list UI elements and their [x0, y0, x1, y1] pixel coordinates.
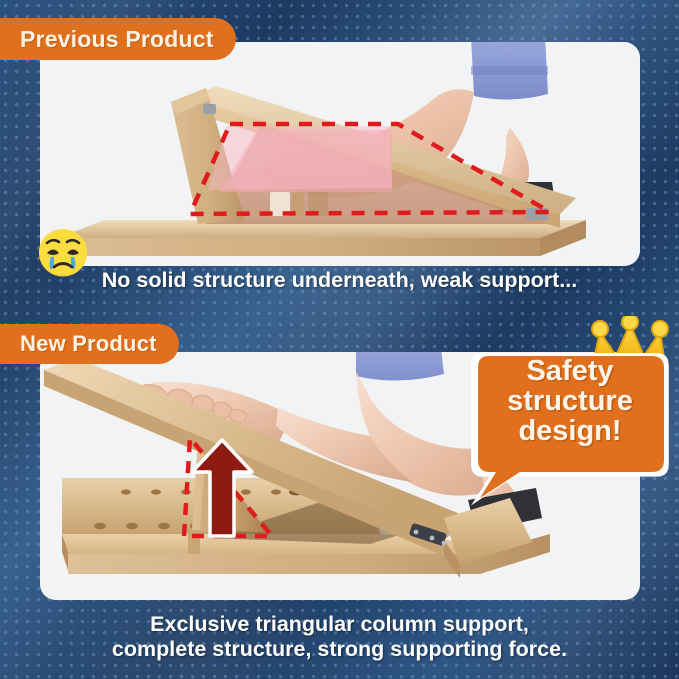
speech-bubble-shape: [470, 316, 679, 516]
previous-product-panel: [40, 42, 640, 266]
new-product-caption-line-1: Exclusive triangular column support,: [0, 612, 679, 637]
base-board-face: [58, 238, 540, 256]
safety-callout: Safety structure design!: [470, 316, 679, 516]
new-product-caption: Exclusive triangular column support, com…: [0, 612, 679, 663]
hinge-top: [203, 104, 216, 114]
badge-new-product: New Product: [0, 324, 179, 364]
crying-face-icon: [36, 226, 90, 280]
previous-product-caption-line: No solid structure underneath, weak supp…: [102, 268, 577, 292]
badge-new-product-label: New Product: [20, 331, 157, 357]
previous-product-photo: [40, 42, 640, 266]
new-product-caption-line-2: complete structure, strong supporting fo…: [0, 637, 679, 662]
previous-product-caption: No solid structure underneath, weak supp…: [0, 268, 679, 293]
badge-previous-product: Previous Product: [0, 18, 236, 60]
legging: [356, 352, 444, 381]
adjust-notches: [270, 192, 328, 216]
bubble-body: [478, 356, 664, 498]
badge-previous-product-label: Previous Product: [20, 26, 214, 53]
